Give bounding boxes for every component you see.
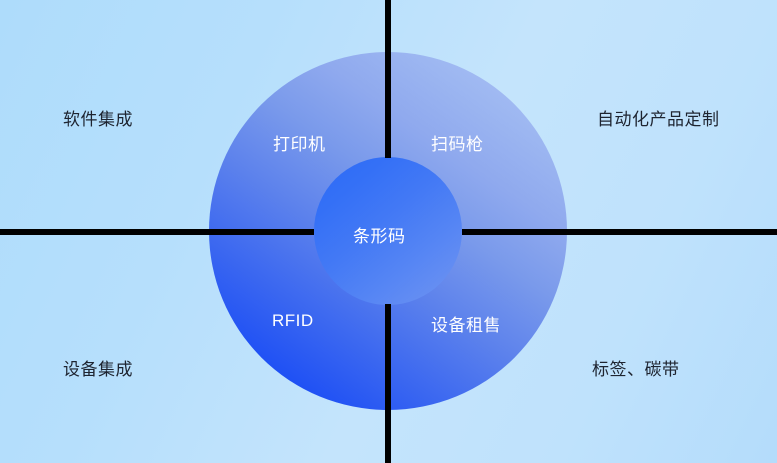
ring-label-rfid: RFID <box>272 311 314 331</box>
core-label-barcode: 条形码 <box>353 222 406 247</box>
diagram-canvas: 软件集成 自动化产品定制 设备集成 标签、碳带 打印机 扫码枪 RFID 设备租… <box>0 0 777 463</box>
vertical-divider-bottom <box>385 304 391 463</box>
vertical-divider-top <box>385 0 391 158</box>
horizontal-divider-left <box>0 229 314 235</box>
ring-label-printer: 打印机 <box>273 130 326 155</box>
ring-label-rental: 设备租售 <box>431 311 501 336</box>
quadrant-label-device-integration: 设备集成 <box>63 355 133 380</box>
quadrant-label-labels-ribbons: 标签、碳带 <box>592 355 680 380</box>
ring-label-scanner: 扫码枪 <box>431 130 484 155</box>
horizontal-divider-right <box>462 229 777 235</box>
quadrant-label-software-integration: 软件集成 <box>63 105 133 130</box>
quadrant-label-automation-customization: 自动化产品定制 <box>597 105 720 130</box>
